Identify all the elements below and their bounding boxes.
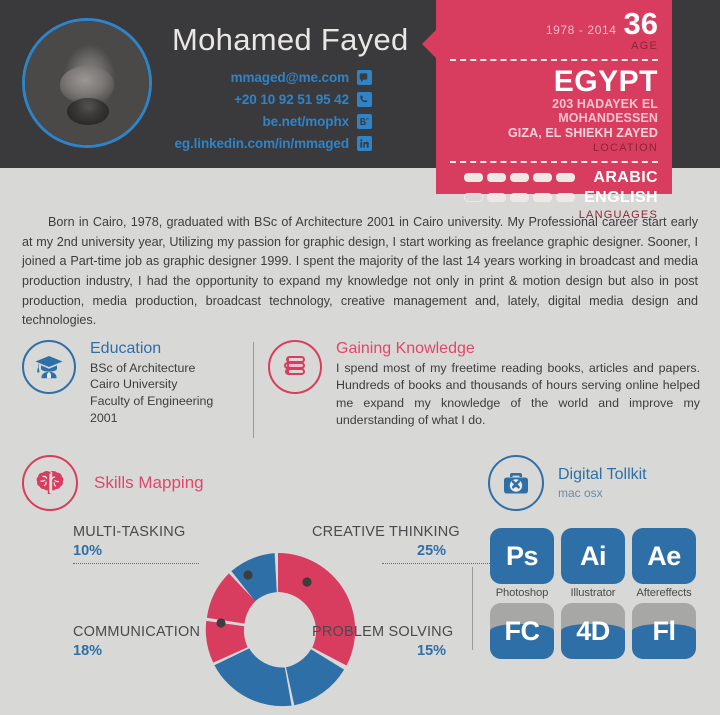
app-icon-photoshop: Ps xyxy=(490,528,554,584)
language-level-english xyxy=(464,193,575,202)
age-label: AGE xyxy=(450,40,658,52)
phone-icon xyxy=(357,92,372,107)
contact-behance[interactable]: be.net/mophx xyxy=(152,112,372,130)
app-icon-flash: Fl xyxy=(632,603,696,659)
skill-value-communication: 18% xyxy=(73,643,102,659)
location-label: LOCATION xyxy=(450,142,658,154)
address-line-2: GIZA, EL SHIEKH ZAYED xyxy=(450,126,658,141)
toolkit-title: Digital Tollkit xyxy=(558,466,647,484)
app-tile-flash[interactable]: Fl xyxy=(632,603,696,659)
app-abbr: Ae xyxy=(647,541,681,572)
contact-email-text: mmaged@me.com xyxy=(231,70,349,85)
education-details: BSc of Architecture Cairo University Fac… xyxy=(90,360,213,427)
graduation-cap-icon xyxy=(22,340,76,394)
app-icon-finalcut: FC xyxy=(490,603,554,659)
knowledge-text-group: Gaining Knowledge I spend most of my fre… xyxy=(336,340,700,430)
donut-marker-multi-tasking xyxy=(243,570,252,579)
level-bar xyxy=(556,173,575,182)
app-tile-cinema4d[interactable]: 4D xyxy=(561,603,625,659)
skill-value-problem-solving: 15% xyxy=(417,643,446,659)
level-bar xyxy=(487,173,506,182)
donut-marker-upper-left xyxy=(216,618,225,627)
toolbox-icon xyxy=(488,455,544,511)
knowledge-section: Gaining Knowledge I spend most of my fre… xyxy=(268,340,700,430)
donut-slice-communication xyxy=(214,648,291,706)
education-degree: BSc of Architecture xyxy=(90,360,213,377)
app-abbr: FC xyxy=(505,616,540,647)
skills-section-header: Skills Mapping xyxy=(22,455,204,511)
knowledge-body: I spend most of my freetime reading book… xyxy=(336,360,700,430)
education-university: Cairo University xyxy=(90,376,213,393)
level-bar xyxy=(510,193,529,202)
toolkit-section-header: Digital Tollkit mac osx xyxy=(488,455,647,511)
skill-value-creative-thinking: 25% xyxy=(417,543,446,559)
education-faculty: Faculty of Engineering xyxy=(90,393,213,410)
message-icon xyxy=(357,70,372,85)
skill-label-creative-thinking: CREATIVE THINKING xyxy=(312,524,460,540)
contact-email[interactable]: mmaged@me.com xyxy=(152,68,372,86)
skill-label-multi-tasking: MULTI-TASKING xyxy=(73,524,185,540)
books-icon xyxy=(268,340,322,394)
brain-icon xyxy=(22,455,78,511)
skill-value-multi-tasking: 10% xyxy=(73,543,102,559)
languages-label: LANGUAGES xyxy=(450,209,658,221)
contact-list: mmaged@me.com +20 10 92 51 95 42 be.net/… xyxy=(152,68,372,156)
level-bar xyxy=(487,193,506,202)
level-bar xyxy=(556,193,575,202)
skills-title: Skills Mapping xyxy=(94,474,204,493)
divider-dashed-1 xyxy=(450,59,658,61)
contact-linkedin-text: eg.linkedin.com/in/mmaged xyxy=(174,136,349,151)
level-bar-empty xyxy=(464,193,483,202)
skills-toolkit-divider xyxy=(472,567,473,650)
contact-phone-text: +20 10 92 51 95 42 xyxy=(234,92,349,107)
country-name: EGYPT xyxy=(450,67,658,97)
age-row: 1978 - 2014 36 xyxy=(450,10,658,39)
language-level-arabic xyxy=(464,173,575,182)
app-abbr: 4D xyxy=(576,616,610,647)
language-row-english: ENGLISH xyxy=(450,189,658,207)
toolkit-app-grid: Ps Photoshop Ai Illustrator Ae Aftereffe… xyxy=(490,528,702,659)
level-bar xyxy=(464,173,483,182)
page-title: Mohamed Fayed xyxy=(172,22,409,58)
app-tile-finalcut[interactable]: FC xyxy=(490,603,554,659)
linkedin-icon xyxy=(357,136,372,151)
app-icon-illustrator: Ai xyxy=(561,528,625,584)
app-tile-illustrator[interactable]: Ai Illustrator xyxy=(561,528,625,599)
leader-line-multi-tasking xyxy=(73,563,199,564)
education-text-group: Education BSc of Architecture Cairo Univ… xyxy=(90,340,213,427)
info-panel: 1978 - 2014 36 AGE EGYPT 203 HADAYEK EL … xyxy=(436,0,672,194)
education-section: Education BSc of Architecture Cairo Univ… xyxy=(22,340,250,427)
bio-paragraph: Born in Cairo, 1978, graduated with BSc … xyxy=(22,213,698,331)
toolkit-subtitle: mac osx xyxy=(558,486,647,500)
level-bar xyxy=(510,173,529,182)
app-caption: Photoshop xyxy=(490,587,554,599)
avatar-photo xyxy=(25,21,149,145)
donut-marker-creative-thinking xyxy=(302,577,311,586)
contact-phone[interactable]: +20 10 92 51 95 42 xyxy=(152,90,372,108)
divider-dashed-2 xyxy=(450,161,658,163)
app-abbr: Fl xyxy=(653,616,676,647)
behance-icon xyxy=(357,114,372,129)
address-line-1: 203 HADAYEK EL MOHANDESSEN xyxy=(450,97,658,127)
education-title: Education xyxy=(90,340,213,358)
level-bar xyxy=(533,193,552,202)
donut-slice-creative-thinking xyxy=(278,553,355,666)
level-bar xyxy=(533,173,552,182)
app-abbr: Ai xyxy=(580,541,606,572)
section-divider-vertical xyxy=(253,342,254,438)
contact-linkedin[interactable]: eg.linkedin.com/in/mmaged xyxy=(152,134,372,152)
skill-label-problem-solving: PROBLEM SOLVING xyxy=(312,624,453,640)
language-row-arabic: ARABIC xyxy=(450,169,658,187)
language-name-english: ENGLISH xyxy=(584,189,658,207)
age-number: 36 xyxy=(624,10,658,39)
years-range: 1978 - 2014 xyxy=(546,23,617,37)
education-year: 2001 xyxy=(90,410,213,427)
skill-label-communication: COMMUNICATION xyxy=(73,624,200,640)
app-abbr: Ps xyxy=(506,541,538,572)
language-name-arabic: ARABIC xyxy=(584,169,658,187)
avatar xyxy=(22,18,152,148)
knowledge-title: Gaining Knowledge xyxy=(336,340,700,358)
app-tile-photoshop[interactable]: Ps Photoshop xyxy=(490,528,554,599)
app-caption: Aftereffects xyxy=(632,587,696,599)
toolkit-text-group: Digital Tollkit mac osx xyxy=(558,466,647,500)
app-icon-aftereffects: Ae xyxy=(632,528,696,584)
app-caption: Illustrator xyxy=(561,587,625,599)
app-tile-aftereffects[interactable]: Ae Aftereffects xyxy=(632,528,696,599)
app-icon-cinema4d: 4D xyxy=(561,603,625,659)
contact-behance-text: be.net/mophx xyxy=(262,114,349,129)
